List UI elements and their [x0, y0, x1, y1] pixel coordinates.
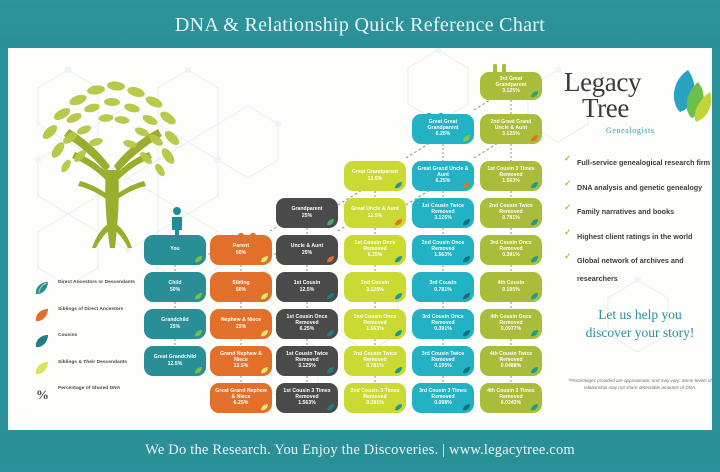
header-bar: DNA & Relationship Quick Reference Chart	[0, 0, 720, 48]
list-item: ✓ DNA analysis and genetic genealogy	[564, 177, 712, 195]
list-item: ✓ Highest client ratings in the world	[564, 226, 712, 244]
list-item-label: Family narratives and books	[577, 207, 674, 216]
list-item-label: Highest client ratings in the world	[577, 232, 692, 241]
cta-text: Let us help you discover your story!	[564, 306, 712, 341]
legend-label: Percentage of Shared DNA	[58, 386, 120, 393]
leaf-logo-icon	[660, 68, 712, 126]
list-item-label: DNA analysis and genetic genealogy	[577, 183, 702, 192]
check-icon: ✓	[564, 153, 571, 164]
logo-line2: Tree	[582, 96, 629, 122]
leaf-darkteal-icon	[34, 334, 50, 348]
check-icon: ✓	[564, 178, 571, 189]
leaf-yellow-icon	[34, 361, 50, 375]
legend-item: Cousins	[34, 333, 154, 355]
list-item-label: Full-service genealogical research firm	[577, 158, 710, 167]
logo-subtitle: Genealogists	[606, 126, 655, 135]
legend-label: Siblings & Their Descendants	[58, 360, 127, 367]
footer-tagline: We Do the Research. You Enjoy the Discov…	[0, 442, 720, 459]
page-title: DNA & Relationship Quick Reference Chart	[0, 14, 720, 37]
footer-bar: We Do the Research. You Enjoy the Discov…	[0, 430, 720, 472]
list-item: ✓ Full-service genealogical research fir…	[564, 152, 712, 170]
legend-item: % Percentage of Shared DNA	[34, 386, 154, 408]
list-item: ✓ Family narratives and books	[564, 201, 712, 219]
chart-canvas: You Child 50% Grandchild 25% Great Grand…	[8, 48, 712, 430]
legend: Direct Ancestors or Descendants Siblings…	[34, 280, 154, 413]
percent-icon: %	[34, 387, 50, 401]
leaf-teal-icon	[34, 281, 50, 295]
logo-wordmark: Legacy Tree	[564, 70, 641, 121]
list-item: ✓ Global network of archives and researc…	[564, 250, 712, 286]
legend-label: Direct Ancestors or Descendants	[58, 280, 135, 287]
infographic-page: DNA & Relationship Quick Reference Chart	[0, 0, 720, 472]
svg-text:%: %	[36, 387, 49, 401]
disclaimer-text: *Percentages provided are approximate, a…	[560, 378, 712, 391]
logo[interactable]: Legacy Tree Genealogists	[564, 64, 712, 146]
list-item-label: Global network of archives and researche…	[577, 256, 684, 283]
legend-label: Cousins	[58, 333, 77, 340]
legend-item: Siblings & Their Descendants	[34, 360, 154, 382]
legend-item: Siblings of Direct Ancestors	[34, 307, 154, 329]
check-icon: ✓	[564, 227, 571, 238]
check-icon: ✓	[564, 202, 571, 213]
benefits-list: ✓ Full-service genealogical research fir…	[564, 152, 712, 293]
leaf-orange-icon	[34, 308, 50, 322]
legend-label: Siblings of Direct Ancestors	[58, 307, 123, 314]
legend-item: Direct Ancestors or Descendants	[34, 280, 154, 302]
cta-line2: discover your story!	[586, 325, 695, 340]
check-icon: ✓	[564, 251, 571, 262]
cta-line1: Let us help you	[598, 307, 682, 322]
